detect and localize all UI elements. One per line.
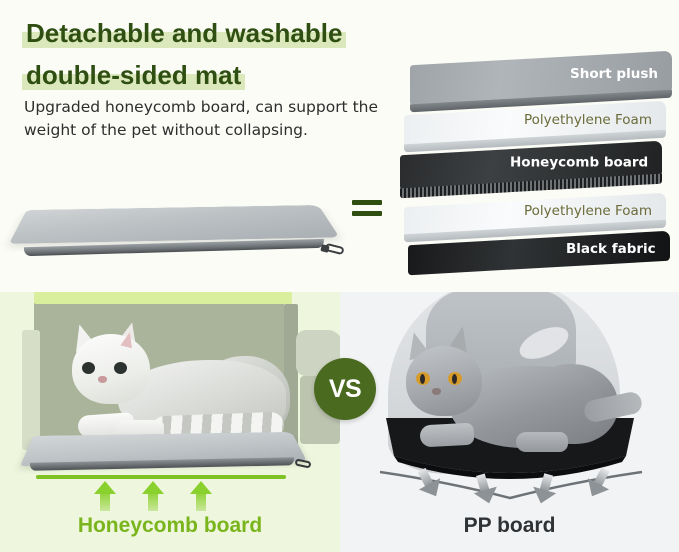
layer-short-plush: Short plush <box>410 51 672 106</box>
zipper-pull-icon <box>292 458 314 470</box>
cat-pupil <box>420 374 425 384</box>
headline-line-1: Detachable and washable <box>22 14 346 52</box>
cat-eye <box>82 362 95 374</box>
layer-label: Polyethylene Foam <box>524 112 652 128</box>
comparison-section: Honeycomb board <box>0 292 679 552</box>
headline-line-2-text: double-sided mat <box>26 60 241 90</box>
caption-pp-board: PP board <box>340 514 679 538</box>
comparison-panel-pp-board: PP board <box>340 292 679 552</box>
feature-description: Upgraded honeycomb board, can support th… <box>24 96 392 142</box>
cat-paw <box>419 423 474 448</box>
layer-label: Polyethylene Foam <box>524 203 652 219</box>
caption-honeycomb-board: Honeycomb board <box>0 514 340 538</box>
support-line-straight <box>36 475 286 479</box>
headline-block: Detachable and washable double-sided mat <box>22 14 402 94</box>
headline-line-1-text: Detachable and washable <box>26 18 342 48</box>
layer-polyethylene-foam-bottom: Polyethylene Foam <box>404 193 666 236</box>
white-cat-image <box>56 318 286 448</box>
mat-top-surface <box>9 205 340 244</box>
headline-line-2: double-sided mat <box>22 56 245 94</box>
cat-tree-top-edge <box>34 292 292 304</box>
cat-tree-side-panel <box>22 330 40 450</box>
equals-icon <box>352 198 382 224</box>
vs-badge: VS <box>314 358 376 420</box>
layer-stack-diagram: Short plush Polyethylene Foam Honeycomb … <box>398 58 674 276</box>
arrow-up-icon <box>190 481 212 511</box>
cat-nose <box>98 376 107 383</box>
cat-paw <box>516 432 568 452</box>
cat-eye <box>114 362 127 374</box>
cat-pupil <box>452 374 457 384</box>
feature-section: Detachable and washable double-sided mat… <box>0 0 679 292</box>
arrow-up-icon <box>142 481 164 511</box>
layer-label: Short plush <box>570 66 658 82</box>
mat-illustration <box>8 186 348 286</box>
layer-label: Honeycomb board <box>510 154 648 170</box>
product-infographic: Detachable and washable double-sided mat… <box>0 0 679 552</box>
zipper-pull-icon <box>321 242 347 256</box>
cat-nose <box>432 388 441 395</box>
gray-cat-image <box>398 328 628 458</box>
layer-label: Black fabric <box>566 241 656 257</box>
comparison-panel-honeycomb: Honeycomb board <box>0 292 340 552</box>
arrow-up-icon <box>94 481 116 511</box>
